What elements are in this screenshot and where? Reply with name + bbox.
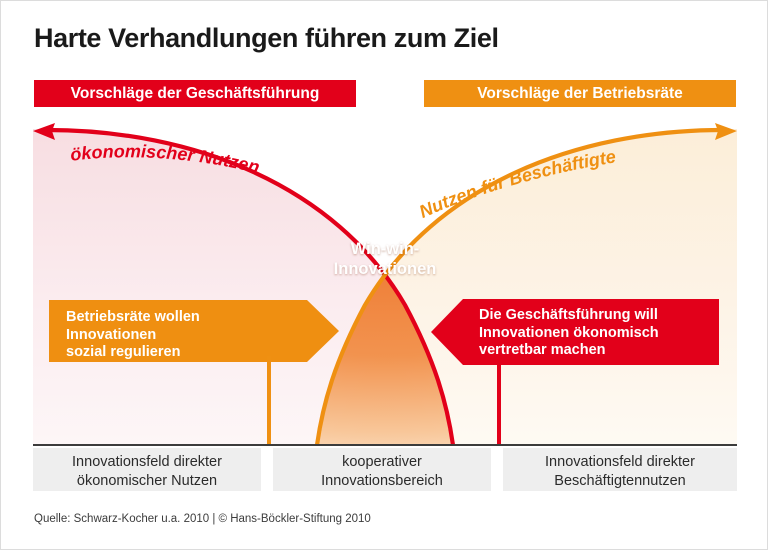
legend-box-employee-line2: Beschäftigtennutzen bbox=[503, 472, 737, 491]
divider-red bbox=[497, 356, 501, 444]
legend-box-employee-line1: Innovationsfeld direkter bbox=[503, 453, 737, 472]
legend-box-economic-line1: Innovationsfeld direkter bbox=[33, 453, 261, 472]
header-pill-management: Vorschläge der Geschäftsführung bbox=[34, 80, 356, 107]
infographic-card: Harte Verhandlungen führen zum Ziel Vors… bbox=[0, 0, 768, 550]
source-credit: Quelle: Schwarz-Kocher u.a. 2010 | © Han… bbox=[34, 513, 371, 525]
legend-box-employee: Innovationsfeld direkter Beschäftigtennu… bbox=[503, 448, 737, 491]
callout-works-council-line2: Innovationen bbox=[66, 327, 339, 345]
overlapping-curves-diagram: ökonomischer Nutzen Nutzen für Beschäfti… bbox=[33, 123, 737, 445]
diagram-stage: ökonomischer Nutzen Nutzen für Beschäfti… bbox=[33, 123, 737, 445]
header-pill-works-council: Vorschläge der Betriebsräte bbox=[424, 80, 736, 107]
callout-management: Die Geschäftsführung will Innovationen ö… bbox=[431, 299, 719, 365]
callout-works-council-line1: Betriebsräte wollen bbox=[66, 309, 339, 327]
legend-box-cooperative-line2: Innovationsbereich bbox=[273, 472, 491, 491]
callout-management-line1: Die Geschäftsführung will bbox=[479, 307, 719, 325]
callout-management-line3: vertretbar machen bbox=[479, 342, 719, 360]
legend-box-economic: Innovationsfeld direkter ökonomischer Nu… bbox=[33, 448, 261, 491]
page-title: Harte Verhandlungen führen zum Ziel bbox=[34, 23, 499, 54]
win-win-label: Win-win- Innovationen bbox=[303, 239, 467, 279]
callout-works-council: Betriebsräte wollen Innovationen sozial … bbox=[49, 300, 339, 362]
win-win-line1: Win-win- bbox=[351, 240, 420, 258]
divider-orange bbox=[267, 356, 271, 444]
callout-management-line2: Innovationen ökonomisch bbox=[479, 325, 719, 343]
baseline-rule bbox=[33, 444, 737, 446]
callout-works-council-line3: sozial regulieren bbox=[66, 344, 339, 362]
legend-box-cooperative-line1: kooperativer bbox=[273, 453, 491, 472]
legend-box-economic-line2: ökonomischer Nutzen bbox=[33, 472, 261, 491]
legend-box-cooperative: kooperativer Innovationsbereich bbox=[273, 448, 491, 491]
win-win-line2: Innovationen bbox=[334, 260, 437, 278]
